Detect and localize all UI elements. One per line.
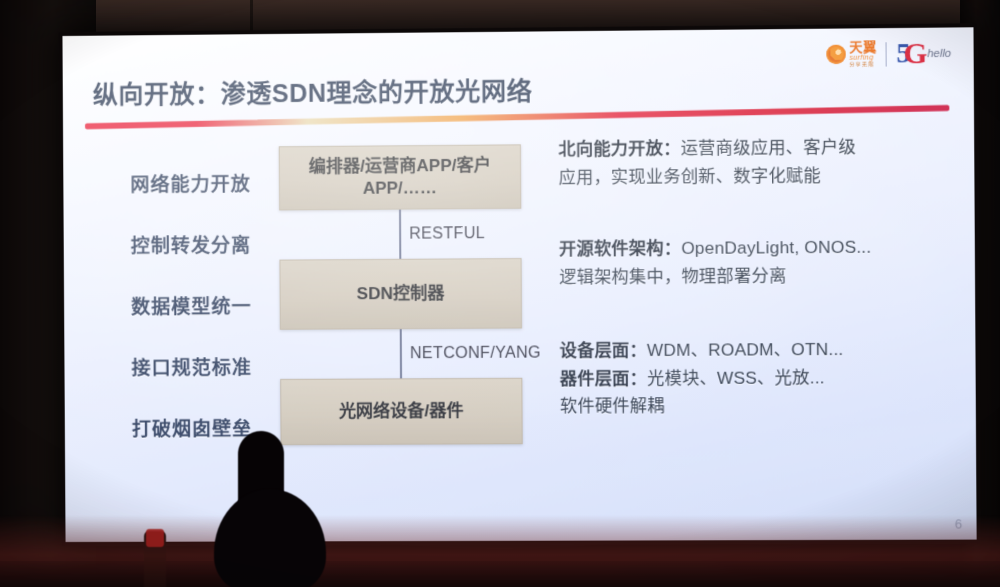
annotation-line: 应用，实现业务创新、数字化赋能 (558, 161, 956, 192)
connector-netconf-yang: NETCONF/YANG (280, 328, 522, 378)
logo-divider (886, 42, 887, 66)
connector-label-netconf: NETCONF/YANG (410, 344, 541, 363)
stack-box-sdn-controller: SDN控制器 (279, 258, 522, 330)
annotation-line: 软件硬件解耦 (560, 391, 958, 421)
annotation-line: 设备层面：WDM、ROADM、OTN... (560, 335, 958, 365)
five-g-g: G (903, 40, 927, 68)
tianyi-brand-cn: 天翼 (849, 40, 877, 53)
tianyi-logo: 天翼 surfing 分享无限 (827, 40, 877, 68)
annotation-rest: OpenDayLight, ONOS... (681, 238, 871, 258)
left-item-2: 数据模型统一 (86, 275, 297, 337)
annotation-rest: WDM、ROADM、OTN... (647, 340, 844, 360)
left-capability-list: 网络能力开放 控制转发分离 数据模型统一 接口规范标准 打破烟囱壁垒 (85, 152, 298, 459)
left-item-1: 控制转发分离 (86, 213, 297, 276)
five-g-hello-text: hello (927, 47, 951, 59)
connector-restful: RESTFUL (279, 209, 521, 260)
projection-screen: 天翼 surfing 分享无限 5 G hello 纵向开放：渗透SDN理念的开… (62, 27, 976, 542)
architecture-stack: 编排器/运营商APP/客户APP/…… RESTFUL SDN控制器 NETCO… (279, 144, 523, 445)
annotation-rest: 逻辑架构集中，物理部署分离 (559, 266, 786, 287)
foreground-table (0, 561, 1000, 587)
annotation-rest: 应用，实现业务创新、数字化赋能 (559, 166, 822, 187)
annotation-block-devices: 设备层面：WDM、ROADM、OTN... 器件层面：光模块、WSS、光放...… (560, 335, 958, 420)
tianyi-wordmark: 天翼 surfing 分享无限 (849, 40, 877, 68)
annotation-block-northbound: 北向能力开放：运营商级应用、客户级 应用，实现业务创新、数字化赋能 (558, 133, 956, 192)
stack-box-applications: 编排器/运营商APP/客户APP/…… (279, 144, 522, 210)
annotation-rest: 运营商级应用、客户级 (681, 138, 856, 159)
slide-title: 纵向开放：渗透SDN理念的开放光网络 (93, 70, 739, 112)
left-item-0: 网络能力开放 (85, 152, 296, 215)
annotation-lead: 器件层面： (560, 369, 647, 389)
brand-logo: 天翼 surfing 分享无限 5 G hello (827, 40, 952, 68)
annotation-rest: 软件硬件解耦 (560, 396, 665, 416)
five-g-hello-logo: 5 G hello (896, 40, 951, 68)
connector-label-restful: RESTFUL (409, 225, 485, 244)
annotation-line: 开源软件架构：OpenDayLight, ONOS... (559, 233, 957, 263)
stack-box-optical-devices: 光网络设备/器件 (280, 378, 523, 445)
left-item-3: 接口规范标准 (86, 336, 297, 398)
annotation-line: 逻辑架构集中，物理部署分离 (559, 261, 957, 291)
left-item-4: 打破烟囱壁垒 (87, 397, 298, 459)
tianyi-tagline: 分享无限 (849, 63, 877, 68)
annotation-rest: 光模块、WSS、光放... (647, 368, 825, 388)
annotation-block-opensource: 开源软件架构：OpenDayLight, ONOS... 逻辑架构集中，物理部署… (559, 233, 957, 291)
annotation-line: 器件层面：光模块、WSS、光放... (560, 363, 958, 393)
annotation-lead: 北向能力开放： (558, 139, 680, 159)
annotation-line: 北向能力开放：运营商级应用、客户级 (558, 133, 956, 164)
right-annotation-column: 北向能力开放：运营商级应用、客户级 应用，实现业务创新、数字化赋能 开源软件架构… (558, 133, 957, 447)
connector-line (400, 329, 402, 378)
presentation-photo: 天翼 surfing 分享无限 5 G hello 纵向开放：渗透SDN理念的开… (0, 0, 1000, 587)
tianyi-swirl-icon (827, 45, 847, 64)
annotation-lead: 设备层面： (560, 341, 647, 361)
connector-line (399, 210, 401, 259)
annotation-lead: 开源软件架构： (559, 239, 681, 259)
